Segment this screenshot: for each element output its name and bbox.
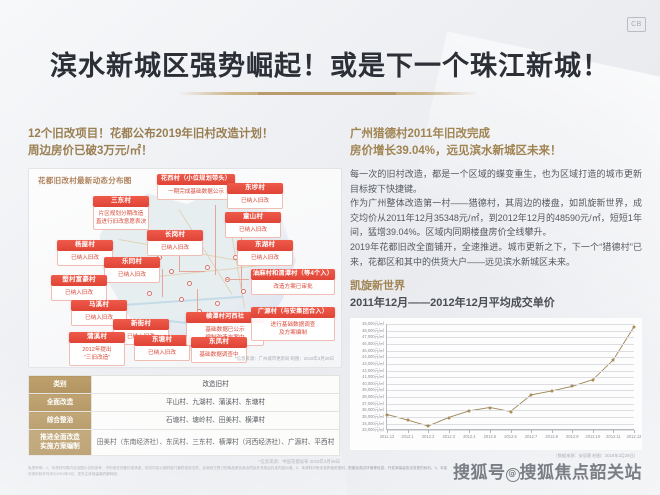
map-poi [215, 301, 220, 306]
promo-page: CB 滨水新城区强势崛起！或是下一个珠江新城！ 12个旧改项目！花都公布2019… [0, 0, 660, 495]
chart-x-tick-label: 2011.12 [380, 434, 395, 439]
right-column: 广州猎德村2011年旧改完成 房价增长39.04%，远见滨水新城区未来！ 每一次… [350, 126, 642, 450]
chart-gridline [387, 351, 634, 352]
map-leader-line [162, 269, 163, 297]
map-pin[interactable]: 油麻村和清潭村（等4个入） 改造方案已审批 [251, 269, 335, 295]
chart-x-tick-mark [511, 430, 512, 433]
chart-y-tick-label: 42,000元/㎡ [362, 368, 384, 374]
chart-y-tick-label: 34,000元/㎡ [362, 421, 384, 427]
right-lead-line2: 房价增长39.04%，远见滨水新城区未来！ [350, 143, 642, 160]
map-poi [179, 297, 184, 302]
chart-x-tick-mark [531, 430, 532, 433]
map-pin-name: 乐同村 [104, 257, 160, 268]
chart-x-tick-mark [408, 430, 409, 433]
chart-y-tick-label: 43,000元/㎡ [362, 361, 384, 367]
page-title: 滨水新城区强势崛起！或是下一个珠江新城！ [0, 44, 660, 83]
chart-data-point [550, 390, 553, 393]
map-pin-name: 东凤村 [191, 337, 247, 348]
map-leader-line [225, 279, 249, 280]
map-leader-line [215, 205, 216, 275]
chart-y-tick-label: 36,000元/㎡ [362, 407, 384, 413]
chart-x-tick-label: 2012.2 [422, 434, 435, 439]
chart-x-tick-label: 2012.1 [401, 434, 414, 439]
table-row: 类别 改造旧村 [29, 376, 340, 394]
map-pin[interactable]: 童山村 已纳入旧改 [225, 212, 281, 238]
map-poi [169, 269, 174, 274]
chart-x-tick-label: 2012.9 [566, 434, 579, 439]
map-pin-status: 已纳入旧改 [227, 194, 283, 209]
chart-gridline [387, 424, 634, 425]
map-pin[interactable]: 花西村（小位规划带头） 一期完成基础数据公示 [157, 174, 235, 200]
map-pin[interactable]: 长岗村 已纳入旧改 [147, 230, 203, 256]
map-pin-status: 已纳入旧改 [134, 346, 190, 361]
chart-data-point [406, 419, 409, 422]
chart-data-point [571, 385, 574, 388]
disclaimer-text: 免责声明：1、本资料所载内容及图片仅供参考，不构成任何要约或承诺，相关内容以政府… [28, 465, 448, 477]
right-body-text: 每一次的旧村改造，都是一个区域的蝶变重生，也为区域打造的城市更新目标按下快捷键。… [350, 167, 642, 269]
chart-gridline [387, 324, 634, 325]
chart-title: 2011年12月——2012年12月平均成交单价 [350, 295, 642, 312]
map-pin-name: 广源村（与安集团合入） [251, 307, 335, 318]
map-pin-name: 花西村（小位规划带头） [157, 174, 235, 185]
chart-y-tick-label: 47,000元/㎡ [362, 334, 384, 340]
table-row-key: 推进全面改造 实施方案编制 [29, 430, 92, 456]
chart-x-tick-mark [387, 430, 388, 433]
map-pin[interactable]: 广源村（与安集团合入） 进行基础数据调查 及方案编制 [251, 307, 335, 341]
body-paragraph: 每一次的旧村改造，都是一个区域的蝶变重生，也为区域打造的城市更新目标按下快捷键。 [350, 167, 642, 196]
map-pin-name: 马溪村 [71, 300, 127, 311]
table-row-key: 全面改造 [29, 394, 92, 412]
chart-y-tick-label: 46,000元/㎡ [362, 341, 384, 347]
chart-y-tick-label: 35,000元/㎡ [362, 414, 384, 420]
map-poi [147, 291, 152, 296]
chart-plot-area: 49,000元/㎡48,000元/㎡47,000元/㎡46,000元/㎡45,0… [386, 324, 634, 430]
chart-x-tick-label: 2012.3 [442, 434, 455, 439]
chart-y-tick-label: 37,000元/㎡ [362, 401, 384, 407]
chart-y-tick-label: 39,000元/㎡ [362, 387, 384, 393]
table-row-value: 改造旧村 [92, 376, 340, 394]
chart-x-tick-label: 2012.4 [463, 434, 476, 439]
chart-x-tick-mark [634, 430, 635, 433]
map-pin[interactable]: 东湖村 已纳入旧改 [237, 240, 293, 266]
renewal-plan-table: 类别 改造旧村 全面改造 平山村、九湖村、蒲溪村、东塘村 综合整治 石塘村、塘岭… [28, 375, 340, 456]
chart-data-point [509, 410, 512, 413]
chart-gridline [387, 377, 634, 378]
chart-y-tick-label: 44,000元/㎡ [362, 354, 384, 360]
map-pin-status: 片区规划分期改造 直进行旧改意愿表决 [93, 207, 149, 230]
watermark-at-icon: @ [506, 468, 520, 482]
map-pin[interactable]: 塱村富豪村 已纳入旧改 [51, 275, 107, 301]
map-leader-line [179, 271, 205, 272]
map-poi [187, 281, 192, 286]
chart-data-point [530, 394, 533, 397]
map-pin[interactable]: 东塘村 已纳入旧改 [134, 335, 190, 361]
chart-x-tick-mark [572, 430, 573, 433]
map-pin[interactable]: 三东村 片区规划分期改造 直进行旧改意愿表决 [93, 196, 149, 230]
map-pin-status: 改造方案已审批 [251, 280, 335, 295]
chart-data-point [468, 409, 471, 412]
chart-gridline [387, 404, 634, 405]
sohu-watermark: 搜狐号@搜狐焦点韶关站 [453, 458, 642, 483]
chart-x-tick-mark [469, 430, 470, 433]
chart-x-tick-mark [490, 430, 491, 433]
chart-x-tick-mark [613, 430, 614, 433]
map-pin-name: 东塘村 [134, 335, 190, 346]
chart-gridline [387, 390, 634, 391]
map-pin-name: 东湖村 [237, 240, 293, 251]
map-pin-status: 已纳入旧改 [225, 223, 281, 238]
chart-x-tick-label: 2012.6 [504, 434, 517, 439]
table-row: 全面改造 平山村、九湖村、蒲溪村、东塘村 [29, 394, 340, 412]
chart-heading: 凯旋新世界 [350, 278, 642, 294]
map-pin[interactable]: 乐同村 已纳入旧改 [104, 257, 160, 283]
title-divider [178, 92, 478, 95]
map-poi [241, 289, 246, 294]
map-pin-status: 进行基础数据调查 及方案编制 [251, 318, 335, 341]
map-title: 花都旧改村最新动态分布图 [38, 175, 132, 186]
table-row-value: 平山村、九湖村、蒲溪村、东塘村 [92, 394, 340, 412]
chart-y-tick-label: 41,000元/㎡ [362, 374, 384, 380]
body-paragraph: 2019年花都旧改全面铺开，全速推进。城市更新之下，下一个“猎德村”已来，花都区… [350, 240, 642, 269]
chart-gridline [387, 331, 634, 332]
map-pin[interactable]: 蒲溪村 2012年提出 “三旧改造” [69, 332, 125, 366]
chart-x-tick-label: 2012.11 [606, 434, 621, 439]
chart-x-tick-label: 2012.12 [627, 434, 642, 439]
table-row: 综合整治 石塘村、塘岭村、田美村、横潭村 [29, 412, 340, 430]
chart-data-point [427, 425, 430, 428]
chart-data-point [447, 416, 450, 419]
chart-gridline [387, 364, 634, 365]
price-trend-chart: 49,000元/㎡48,000元/㎡47,000元/㎡46,000元/㎡45,0… [350, 318, 642, 450]
chart-y-tick-label: 33,000元/㎡ [362, 427, 384, 433]
chart-x-tick-label: 2012.7 [525, 434, 538, 439]
table-row-key: 类别 [29, 376, 92, 394]
chart-data-point [612, 358, 615, 361]
map-pin-name: 杨屋村 [57, 240, 113, 251]
chart-data-point [386, 413, 389, 416]
chart-data-point [488, 406, 491, 409]
map-pin-status: 已纳入旧改 [51, 286, 107, 301]
map-pin-status: 已纳入旧改 [147, 241, 203, 256]
chart-gridline [387, 397, 634, 398]
left-column: 12个旧改项目！花都公布2019年旧村改造计划！ 周边房价已破3万元/㎡！ 花都… [28, 126, 340, 465]
map-poi [205, 265, 210, 270]
left-lead-line2: 周边房价已破3万元/㎡！ [28, 143, 340, 160]
map-pin-name: 新街村 [113, 319, 169, 330]
chart-x-tick-mark [593, 430, 594, 433]
table-row-key: 综合整治 [29, 412, 92, 430]
map-pin-name: 油麻村和清潭村（等4个入） [251, 269, 335, 280]
map-pin-status: 一期完成基础数据公示 [157, 185, 235, 200]
chart-x-tick-label: 2012.8 [545, 434, 558, 439]
map-pin-name: 三东村 [93, 196, 149, 207]
chart-y-tick-label: 45,000元/㎡ [362, 348, 384, 354]
map-leader-line [197, 289, 198, 313]
map-pin-status: 2012年提出 “三旧改造” [69, 343, 125, 366]
chart-gridline [387, 417, 634, 418]
map-pin-name: 东埗村 [227, 183, 283, 194]
chart-x-tick-mark [552, 430, 553, 433]
chart-x-tick-mark [428, 430, 429, 433]
chart-data-point [633, 325, 636, 328]
map-source-note: *信息来源：广州城市更新局 制图：2019年3月28日 [235, 356, 334, 362]
table-row-value: 石塘村、塘岭村、田美村、横潭村 [92, 412, 340, 430]
chart-y-tick-label: 49,000元/㎡ [362, 321, 384, 327]
chart-gridline [387, 357, 634, 358]
map-pin-name: 塱村富豪村 [51, 275, 107, 286]
map-pin[interactable]: 东埗村 已纳入旧改 [227, 183, 283, 209]
map-pin-status: 已纳入旧改 [104, 268, 160, 283]
chart-x-tick-mark [449, 430, 450, 433]
village-renewal-map: 花都旧改村最新动态分布图 广州白云 国际机场 [28, 168, 342, 368]
chart-gridline [387, 337, 634, 338]
chart-gridline [387, 384, 634, 385]
chart-gridline [387, 371, 634, 372]
watermark-left-text: 搜狐号 [453, 463, 506, 483]
chart-x-tick-label: 2012.5 [484, 434, 497, 439]
right-lead-line1: 广州猎德村2011年旧改完成 [350, 126, 642, 143]
chart-y-tick-label: 48,000元/㎡ [362, 328, 384, 334]
chart-x-tick-label: 2012.10 [585, 434, 600, 439]
map-pin-name: 长岗村 [147, 230, 203, 241]
left-lead-line1: 12个旧改项目！花都公布2019年旧村改造计划！ [28, 126, 340, 143]
chart-data-point [591, 378, 594, 381]
table-row: 推进全面改造 实施方案编制 田美村（东南经济社）、东凤村、三东村、横潭村（河西经… [29, 430, 340, 456]
map-pin-name: 蒲溪村 [69, 332, 125, 343]
chart-gridline [387, 344, 634, 345]
table-row-value: 田美村（东南经济社）、东凤村、三东村、横潭村（河西经济社）、广源村、平西村 [92, 430, 340, 456]
map-pin-status: 已纳入旧改 [237, 251, 293, 266]
map-pin-name: 童山村 [225, 212, 281, 223]
chart-y-tick-label: 38,000元/㎡ [362, 394, 384, 400]
chart-y-tick-label: 40,000元/㎡ [362, 381, 384, 387]
body-paragraph: 作为广州整体改造第一村——猎德村，其周边的楼盘，如凯旋新世界，成交均价从2011… [350, 196, 642, 240]
watermark-right-text: 搜狐焦点韶关站 [520, 463, 643, 483]
corner-logo-mark: CB [627, 17, 646, 32]
